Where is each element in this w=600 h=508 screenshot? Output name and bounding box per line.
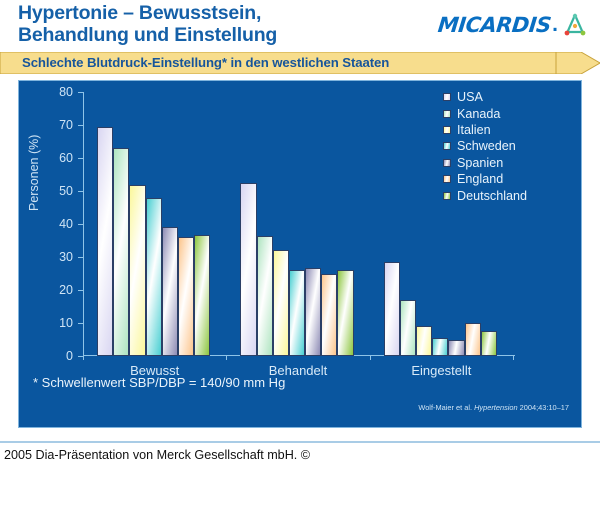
brand-name: MICARDIS [437,13,552,37]
y-axis-tick-label: 10 [59,316,73,330]
y-axis-tick-label: 70 [59,118,73,132]
bar-bewusst-schweden [146,198,162,356]
citation-journal: Hypertension [474,403,518,412]
y-axis-tick: 0 [66,349,83,363]
bar-eingestellt-usa [384,262,400,356]
slide-subtitle: Schlechte Blutdruck-Einstellung* in den … [22,55,389,70]
boehringer-triangle-logo-icon [562,12,588,38]
bar-eingestellt-spanien [448,340,464,357]
y-axis-tick: 10 [59,316,83,330]
title-block: Hypertonie – Bewusstsein, Behandlung und… [0,0,600,50]
bar-behandelt-deutschland [337,270,353,356]
bar-eingestellt-england [465,323,481,356]
chart-legend: USAKanadaItalienSchwedenSpanienEnglandDe… [443,89,573,204]
brand-logo: MICARDIS . [438,10,588,40]
bar-eingestellt-kanada [400,300,416,356]
legend-swatch-icon [443,159,451,167]
bar-behandelt-spanien [305,268,321,356]
legend-label: USA [457,90,483,104]
page-title-line-2: Behandlung und Einstellung [18,24,418,46]
y-axis-tick-label: 30 [59,250,73,264]
page-title-line-1: Hypertonie – Bewusstsein, [18,2,418,24]
y-axis-tick: 50 [59,184,83,198]
x-axis-group-separator [226,355,227,360]
legend-item-england[interactable]: England [443,171,573,187]
citation: Wolf-Maier et al. Hypertension 2004;43:1… [418,403,569,412]
citation-reference: 2004;43:10–17 [518,403,569,412]
bar-eingestellt-italien [416,326,432,356]
legend-item-italien[interactable]: Italien [443,122,573,138]
bar-group-bewusst [83,92,226,356]
legend-swatch-icon [443,110,451,118]
legend-item-spanien[interactable]: Spanien [443,155,573,171]
x-axis-group-separator [83,355,84,360]
x-axis-category-label: Bewusst [130,363,179,378]
brand-dot: . [552,13,558,37]
x-axis-group-separator [370,355,371,360]
y-axis-tick-label: 80 [59,85,73,99]
bar-behandelt-england [321,274,337,356]
legend-label: Deutschland [457,189,527,203]
bar-bewusst-usa [97,127,113,356]
bar-bewusst-deutschland [194,235,210,356]
y-axis-tick: 70 [59,118,83,132]
legend-label: Kanada [457,107,500,121]
legend-swatch-icon [443,192,451,200]
bar-behandelt-kanada [257,236,273,356]
y-axis-label: Personen (%) [27,135,41,211]
bar-group-behandelt [226,92,369,356]
y-axis-tick-label: 0 [66,349,73,363]
bar-behandelt-italien [273,250,289,356]
bar-bewusst-england [178,237,194,356]
legend-label: Schweden [457,139,516,153]
x-axis-end-tick [513,355,514,360]
legend-label: Italien [457,123,491,137]
chart-panel: Personen (%) 01020304050607080 USAKanada… [18,80,582,428]
legend-swatch-icon [443,126,451,134]
legend-label: Spanien [457,156,503,170]
page-title: Hypertonie – Bewusstsein, Behandlung und… [18,2,418,46]
y-axis-tick: 30 [59,250,83,264]
caption-divider [0,441,600,443]
x-axis-category-label: Behandelt [269,363,328,378]
legend-swatch-icon [443,142,451,150]
bar-behandelt-schweden [289,270,305,356]
legend-item-schweden[interactable]: Schweden [443,138,573,154]
bar-eingestellt-deutschland [481,331,497,356]
legend-item-deutschland[interactable]: Deutschland [443,187,573,203]
y-axis-tick: 20 [59,283,83,297]
legend-item-usa[interactable]: USA [443,89,573,105]
legend-swatch-icon [443,93,451,101]
subtitle-band: Schlechte Blutdruck-Einstellung* in den … [0,52,600,74]
legend-swatch-icon [443,175,451,183]
x-axis-category-label: Eingestellt [411,363,471,378]
bar-bewusst-spanien [162,227,178,356]
y-axis-tick-label: 60 [59,151,73,165]
y-axis-tick: 60 [59,151,83,165]
citation-author: Wolf-Maier et al. [418,403,474,412]
legend-label: England [457,172,503,186]
y-axis-tick-label: 40 [59,217,73,231]
legend-item-kanada[interactable]: Kanada [443,105,573,121]
y-axis-tick: 80 [59,85,83,99]
bar-behandelt-usa [240,183,256,356]
y-axis-tick-label: 20 [59,283,73,297]
slide: Hypertonie – Bewusstsein, Behandlung und… [0,0,600,442]
bar-bewusst-italien [129,185,145,356]
slide-caption: 2005 Dia-Präsentation von Merck Gesellsc… [4,448,310,462]
bar-bewusst-kanada [113,148,129,356]
bar-eingestellt-schweden [432,338,448,356]
y-axis-tick-label: 50 [59,184,73,198]
y-axis-tick: 40 [59,217,83,231]
